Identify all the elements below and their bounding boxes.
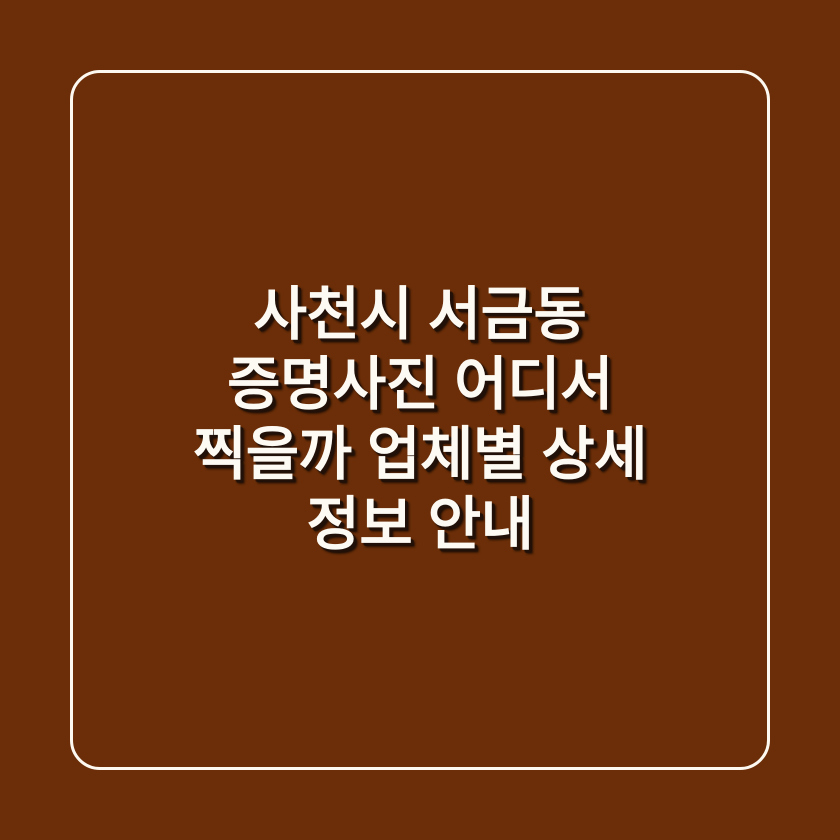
title-line-1: 사천시 서금동	[80, 280, 760, 350]
title-line-2: 증명사진 어디서	[80, 350, 760, 420]
poster-canvas: 사천시 서금동 증명사진 어디서 찍을까 업체별 상세 정보 안내	[0, 0, 840, 840]
poster-title-block: 사천시 서금동 증명사진 어디서 찍을까 업체별 상세 정보 안내	[0, 0, 840, 840]
title-line-3: 찍을까 업체별 상세	[80, 420, 760, 490]
title-line-4: 정보 안내	[80, 490, 760, 560]
